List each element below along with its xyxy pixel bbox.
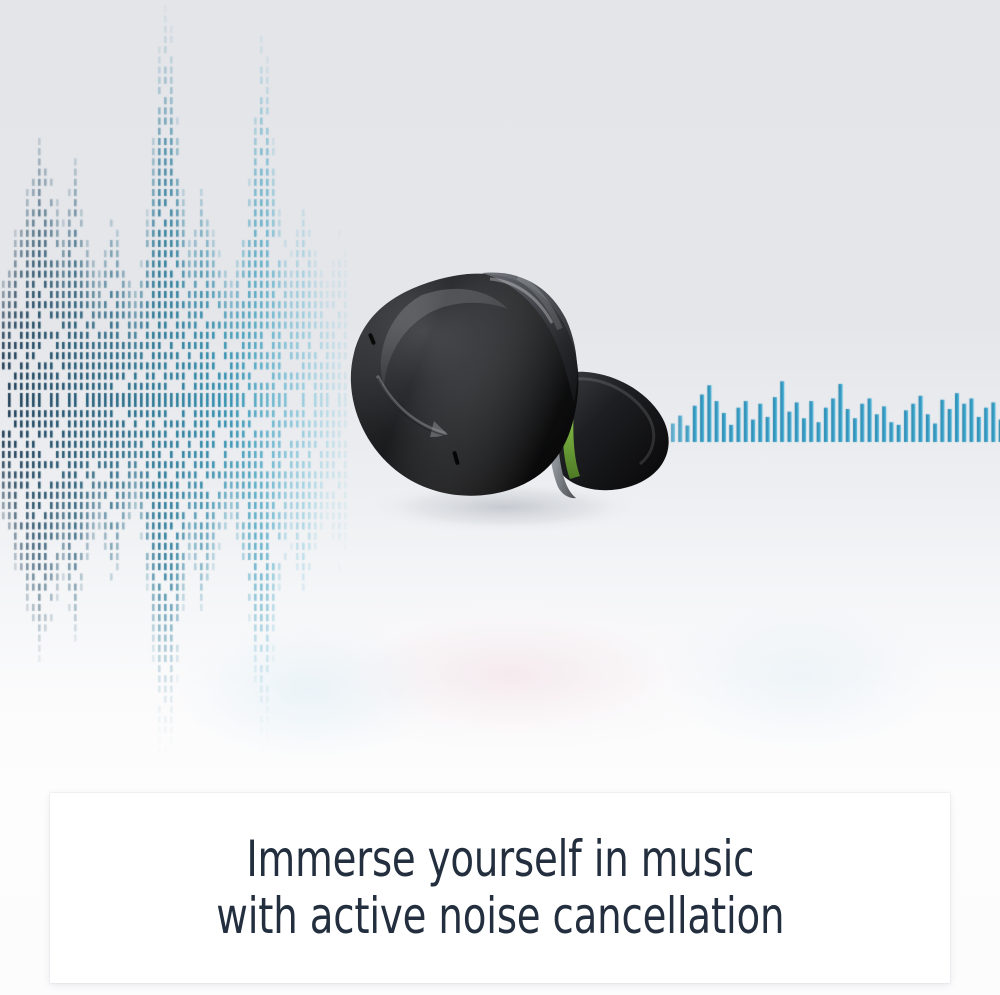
caption-line-2: with active noise cancellation xyxy=(216,888,784,945)
caption-text: Immerse yourself in music with active no… xyxy=(216,831,784,945)
caption-card: Immerse yourself in music with active no… xyxy=(50,793,950,983)
floor-cool-reflection-right xyxy=(660,600,940,750)
wireless-earbud-product xyxy=(330,255,710,545)
incoming-noise-waveform xyxy=(0,0,360,800)
floor-warm-reflection xyxy=(300,600,720,750)
product-image-canvas: Immerse yourself in music with active no… xyxy=(0,0,1000,995)
caption-line-1: Immerse yourself in music xyxy=(216,831,784,888)
clean-audio-waveform xyxy=(670,368,1000,458)
